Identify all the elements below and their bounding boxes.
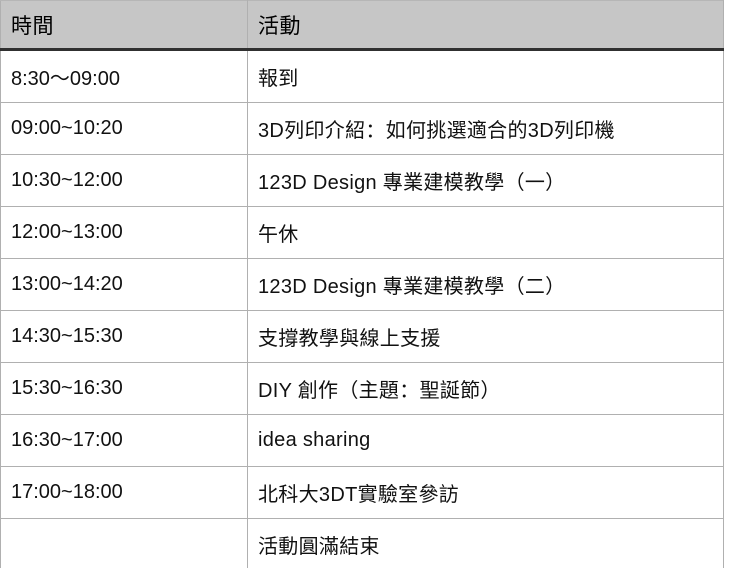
cell-time: 16:30~17:00 (1, 415, 248, 467)
cell-activity: 支撐教學與線上支援 (248, 311, 724, 363)
cell-activity: 3D列印介紹：如何挑選適合的3D列印機 (248, 103, 724, 155)
cell-time: 12:00~13:00 (1, 207, 248, 259)
cell-activity: 午休 (248, 207, 724, 259)
cell-time: 13:00~14:20 (1, 259, 248, 311)
cell-activity: 123D Design 專業建模教學（一） (248, 155, 724, 207)
cell-activity: 123D Design 專業建模教學（二） (248, 259, 724, 311)
table-row: 8:30〜09:00 報到 (1, 50, 724, 103)
cell-time: 17:00~18:00 (1, 467, 248, 519)
table-row: 09:00~10:20 3D列印介紹：如何挑選適合的3D列印機 (1, 103, 724, 155)
cell-time: 14:30~15:30 (1, 311, 248, 363)
cell-time (1, 519, 248, 568)
cell-activity: DIY 創作（主題：聖誕節） (248, 363, 724, 415)
cell-time: 8:30〜09:00 (1, 50, 248, 103)
table-body: 8:30〜09:00 報到 09:00~10:20 3D列印介紹：如何挑選適合的… (1, 50, 724, 568)
table-row: 10:30~12:00 123D Design 專業建模教學（一） (1, 155, 724, 207)
cell-activity: idea sharing (248, 415, 724, 467)
cell-activity: 活動圓滿結束 (248, 519, 724, 568)
event-schedule-table: 時間 活動 8:30〜09:00 報到 09:00~10:20 3D列印介紹：如… (0, 0, 724, 568)
table-header: 時間 活動 (1, 1, 724, 50)
schedule-container: 時間 活動 8:30〜09:00 報到 09:00~10:20 3D列印介紹：如… (0, 0, 730, 568)
cell-activity: 報到 (248, 50, 724, 103)
table-row: 16:30~17:00 idea sharing (1, 415, 724, 467)
table-row: 15:30~16:30 DIY 創作（主題：聖誕節） (1, 363, 724, 415)
column-header-time: 時間 (1, 1, 248, 50)
column-header-activity: 活動 (248, 1, 724, 50)
table-row: 17:00~18:00 北科大3DT實驗室參訪 (1, 467, 724, 519)
cell-time: 09:00~10:20 (1, 103, 248, 155)
table-row: 活動圓滿結束 (1, 519, 724, 568)
cell-time: 10:30~12:00 (1, 155, 248, 207)
cell-time: 15:30~16:30 (1, 363, 248, 415)
cell-activity: 北科大3DT實驗室參訪 (248, 467, 724, 519)
table-header-row: 時間 活動 (1, 1, 724, 50)
table-row: 14:30~15:30 支撐教學與線上支援 (1, 311, 724, 363)
table-row: 13:00~14:20 123D Design 專業建模教學（二） (1, 259, 724, 311)
table-row: 12:00~13:00 午休 (1, 207, 724, 259)
